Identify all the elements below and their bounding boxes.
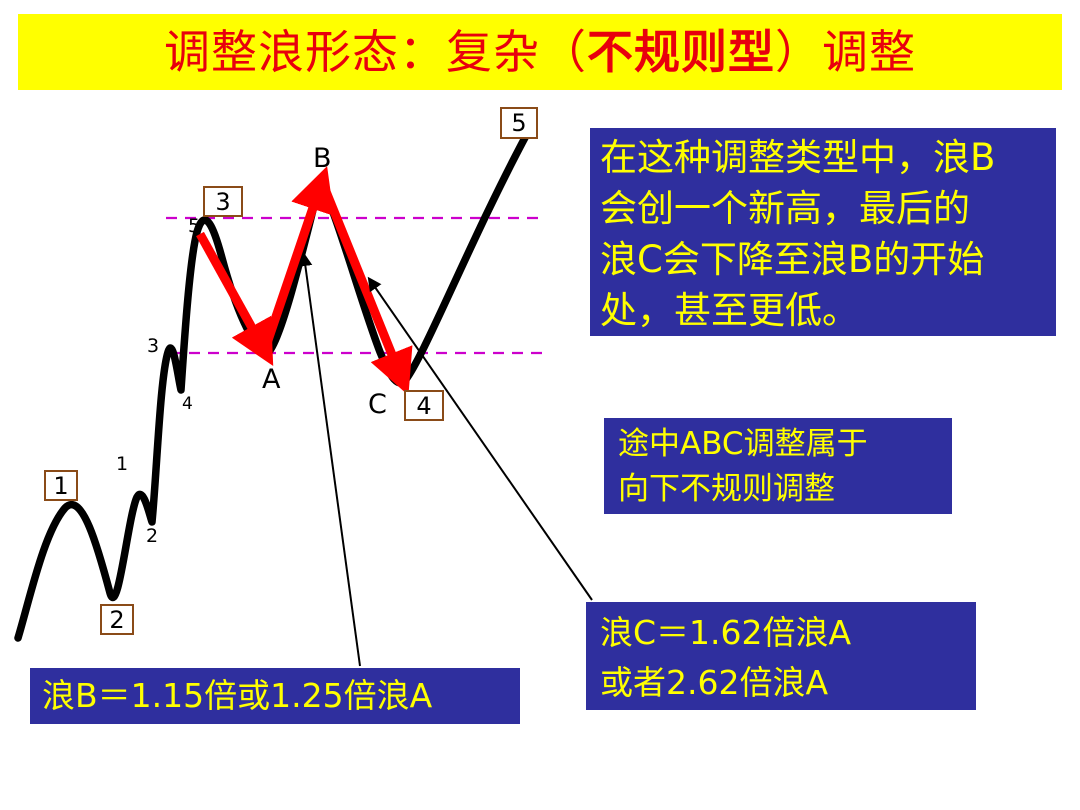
wave-a-arrow [200,234,261,344]
note-wave-b-ratio: 浪B＝1.15倍或1.25倍浪A [30,668,520,724]
note-wave-c-ratio: 浪C＝1.62倍浪A 或者2.62倍浪A [586,602,976,710]
wave-label-sub-2: 2 [146,527,158,546]
note-wave-b-line-1: 浪B＝1.15倍或1.25倍浪A [42,670,508,722]
note-wave-c-line-1: 浪C＝1.62倍浪A [600,608,962,658]
note-abc-line-2: 向下不规则调整 [618,467,938,512]
note-main-line-2: 会创一个新高，最后的 [600,183,1046,234]
wave-label-sub-3: 3 [147,337,159,356]
boxed-label-1: 1 [44,470,78,501]
note-main-line-1: 在这种调整类型中，浪B [600,132,1046,183]
note-main-line-4: 处，甚至更低。 [600,285,1046,336]
wave-c-pointer [370,280,592,600]
wave-label-sub-5: 5 [188,217,200,236]
boxed-label-2: 2 [100,604,134,635]
slide-root: 调整浪形态：复杂（不规则型）调整 [0,0,1080,810]
note-abc-correction: 途中ABC调整属于 向下不规则调整 [604,418,952,514]
note-main-description: 在这种调整类型中，浪B 会创一个新高，最后的 浪C会下降至浪B的开始 处，甚至更… [590,128,1056,336]
wave-label-c: C [368,391,387,418]
wave-label-sub-1: 1 [116,455,128,474]
note-abc-line-1: 途中ABC调整属于 [618,422,938,467]
boxed-label-4: 4 [404,390,444,421]
wave-label-sub-4: 4 [182,396,193,413]
wave-label-a: A [262,366,280,393]
boxed-label-3: 3 [203,186,243,217]
wave-b-pointer [304,256,360,666]
wave-b-arrow [264,190,319,352]
note-main-line-3: 浪C会下降至浪B的开始 [600,234,1046,285]
wave-label-b: B [313,145,332,172]
note-wave-c-line-2: 或者2.62倍浪A [600,658,962,708]
boxed-label-5: 5 [500,107,538,139]
pointer-lines [304,256,592,666]
wave-c-arrow [323,184,399,372]
